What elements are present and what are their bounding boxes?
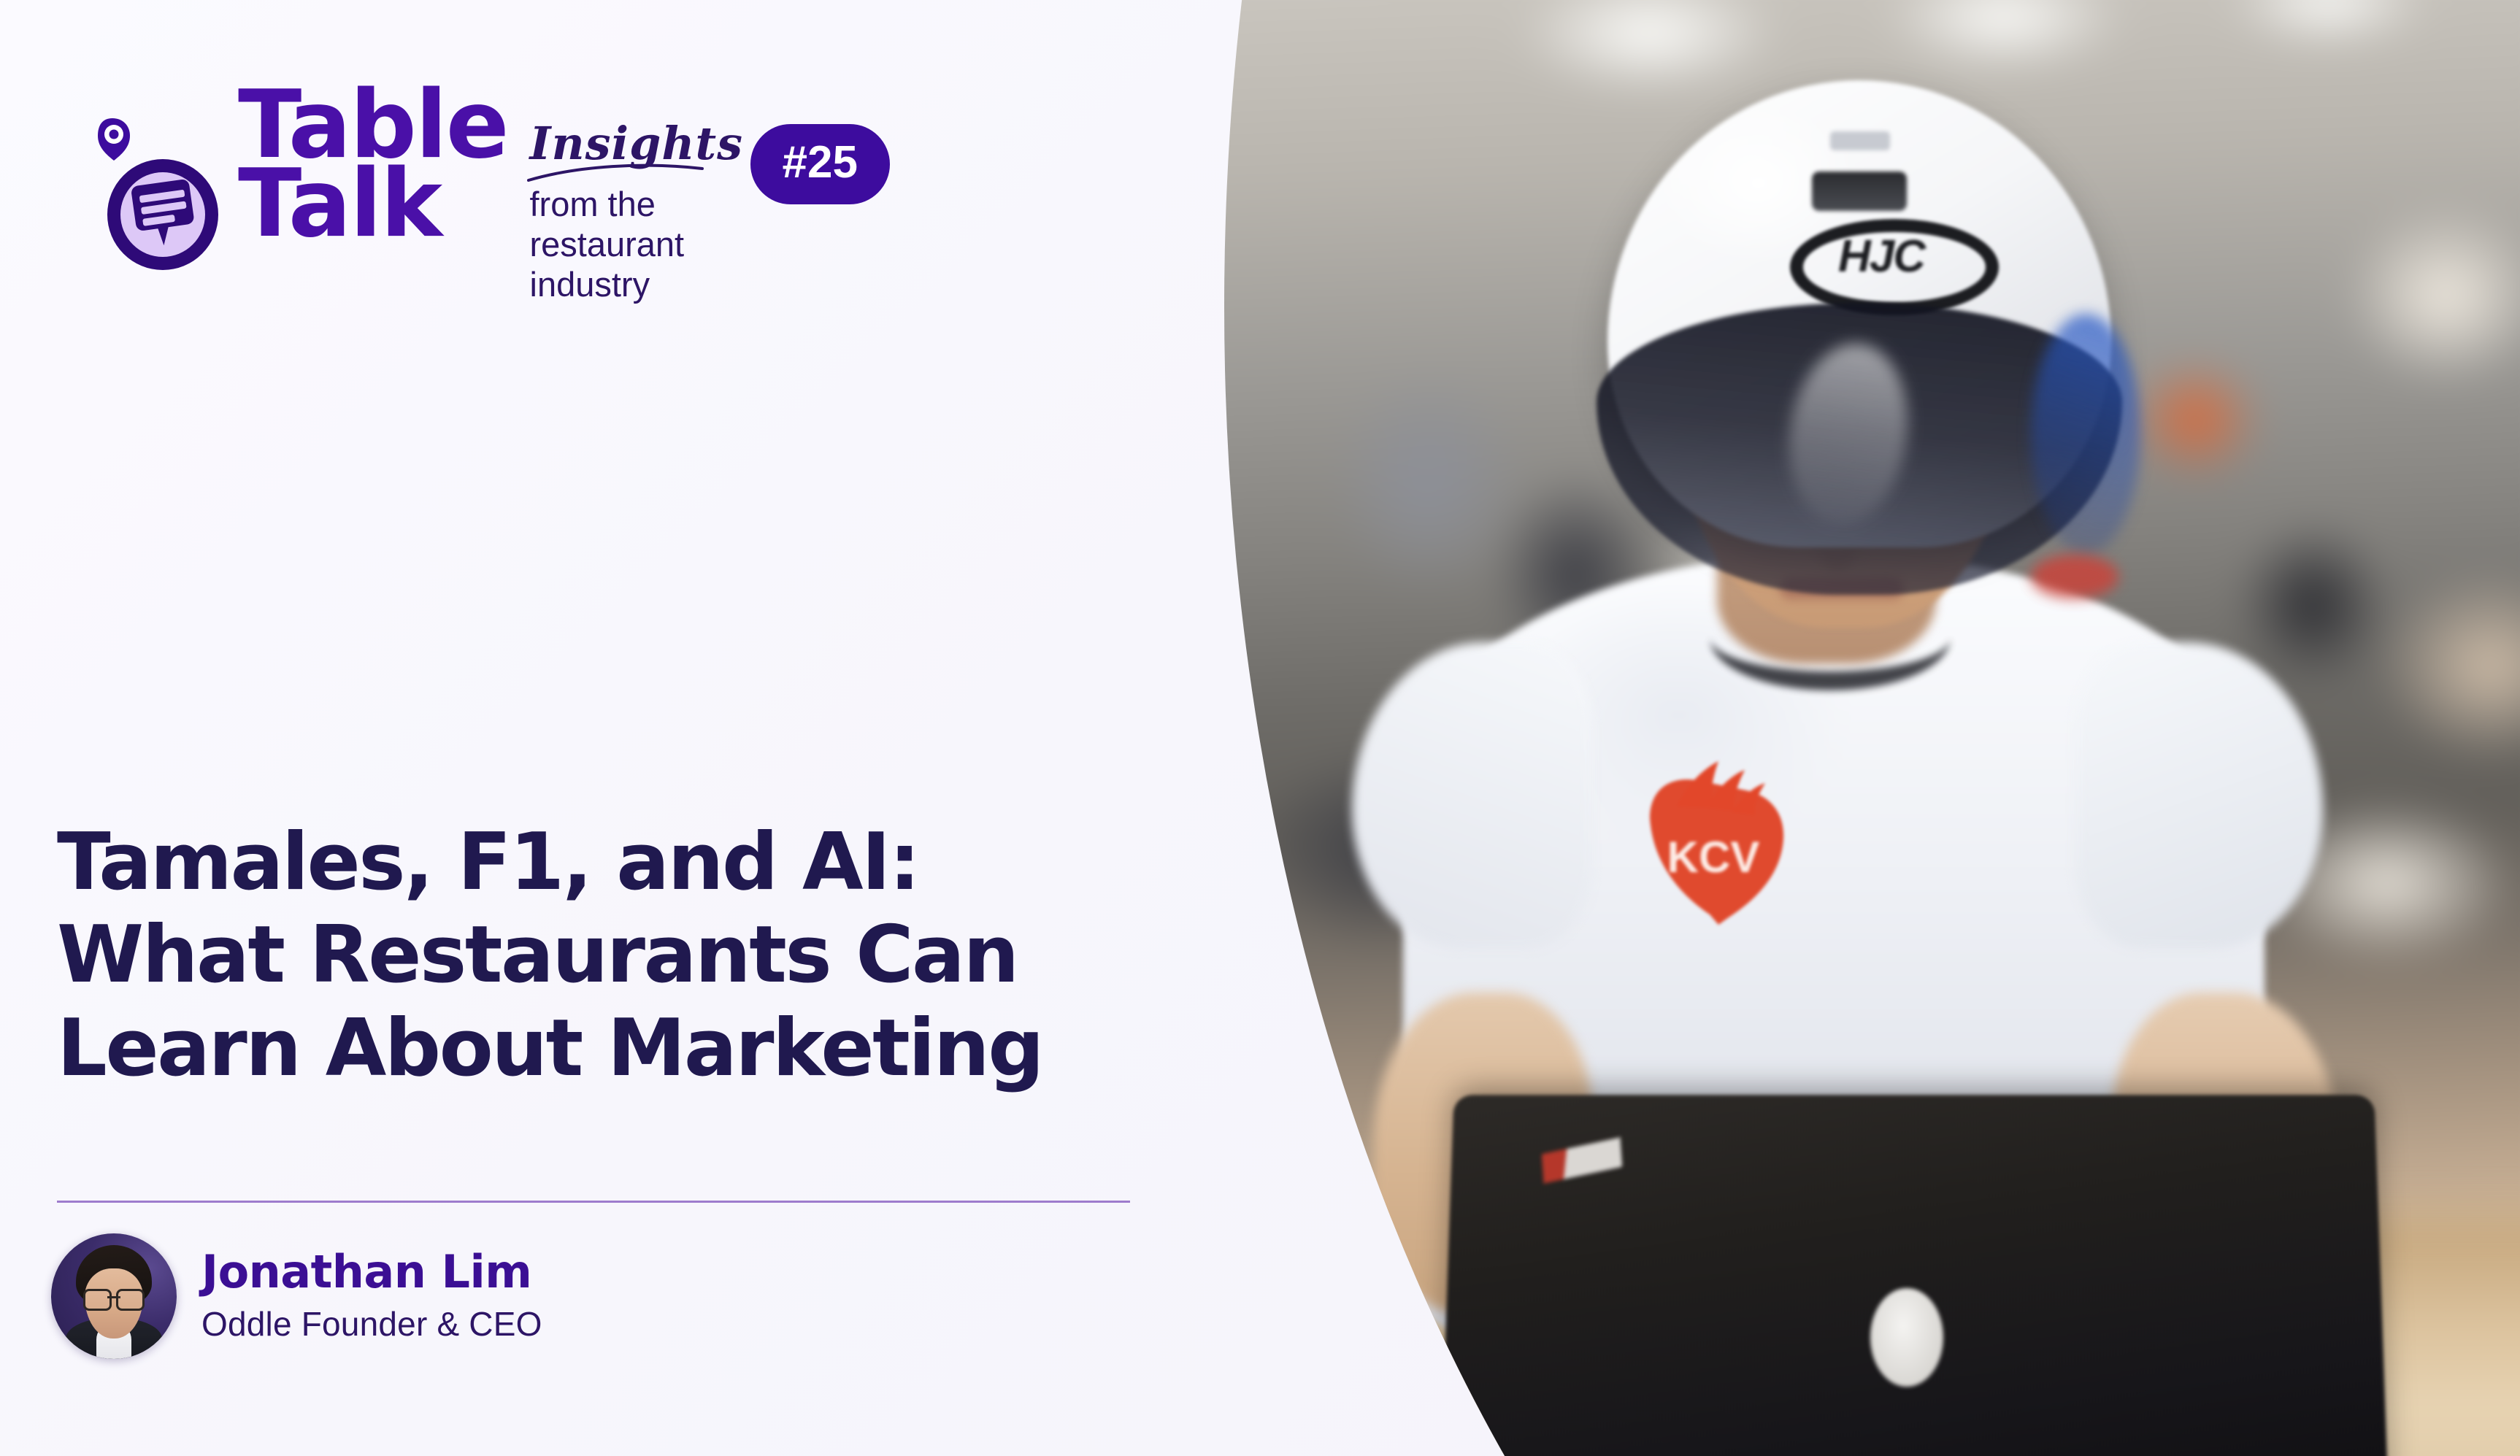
slide-title-line-1: Tamales, F1, and AI: (57, 816, 1159, 909)
svg-text:KCV: KCV (1667, 833, 1760, 882)
tagline-script-insights: Insights (530, 121, 744, 166)
tagline-sub-line-2: restaurant (530, 227, 712, 263)
hero-photo-panel: HJC KCV (1133, 0, 2520, 1456)
content-column: Table Talk Insights from the restaurant … (0, 0, 1183, 1456)
speech-bubble-logo (86, 112, 239, 273)
brand-wordmark: Table Talk (238, 86, 508, 243)
speaker-block: Jonathan Lim Oddle Founder & CEO (51, 1233, 542, 1359)
paper-stack-back (1168, 1347, 1393, 1456)
left-shoulder (1352, 642, 1593, 949)
kcv-shirt-logo: KCV (1637, 755, 1805, 938)
slide-title: Tamales, F1, and AI: What Restaurants Ca… (57, 816, 1159, 1095)
speaker-details: Jonathan Lim Oddle Founder & CEO (201, 1248, 542, 1345)
avatar-lens-right (116, 1289, 145, 1311)
seated-person: HJC KCV (1133, 0, 2520, 1456)
speaker-name: Jonathan Lim (201, 1248, 542, 1296)
section-divider (57, 1201, 1130, 1203)
pin-icon (98, 118, 130, 161)
paper-stack-front (1185, 1272, 1409, 1443)
visor-blue-tint (2031, 314, 2140, 555)
helmet-top-vent (1830, 131, 1890, 150)
presentation-slide: HJC KCV (0, 0, 2520, 1456)
brand-lockup: Table Talk Insights from the restaurant … (86, 102, 890, 303)
hero-photo-clip: HJC KCV (1133, 0, 2520, 1456)
tagline-sub-line-3: industry (530, 267, 712, 303)
helmet-brand-label: HJC (1794, 231, 1969, 282)
chin-strap (1710, 584, 1951, 690)
slide-title-line-2: What Restaurants Can (57, 909, 1159, 1001)
avatar-lens-left (83, 1289, 112, 1311)
speaker-role: Oddle Founder & CEO (201, 1304, 542, 1344)
tagline-sub-line-1: from the (530, 187, 712, 223)
helmet-red-accent (2031, 555, 2118, 598)
slide-title-line-3: Learn About Marketing (57, 1002, 1159, 1095)
avatar (51, 1233, 177, 1359)
laptop-oval-sticker (1870, 1288, 1943, 1387)
glasses-icon (83, 1289, 145, 1306)
right-shoulder (2075, 642, 2323, 949)
brand-tagline: Insights from the restaurant industry (530, 121, 712, 303)
episode-number-badge: #25 (750, 124, 890, 204)
helmet-front-vent (1812, 172, 1907, 211)
